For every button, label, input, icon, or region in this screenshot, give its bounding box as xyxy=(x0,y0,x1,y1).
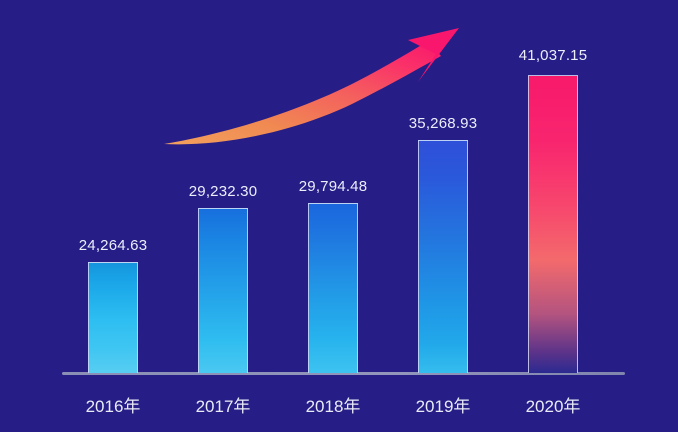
category-label-2016: 2016年 xyxy=(86,392,141,417)
category-label-2019: 2019年 xyxy=(416,392,471,417)
bar-2017 xyxy=(198,208,248,373)
bar-value-2020: 41,037.15 xyxy=(519,47,588,64)
category-label-2020: 2020年 xyxy=(526,392,581,417)
bar-value-2018: 29,794.48 xyxy=(299,178,368,195)
category-label-2017: 2017年 xyxy=(196,392,251,417)
bar-value-2019: 35,268.93 xyxy=(409,115,478,132)
bar-value-2016: 24,264.63 xyxy=(79,237,148,254)
bar-2020 xyxy=(528,75,578,373)
bar-2019 xyxy=(418,140,468,373)
bar-2018 xyxy=(308,203,358,373)
bar-value-2017: 29,232.30 xyxy=(189,183,258,200)
bar-chart-figure: 24,264.63 2016年 29,232.30 2017年 29,794.4… xyxy=(0,0,678,432)
category-label-2018: 2018年 xyxy=(306,392,361,417)
plot-area: 24,264.63 2016年 29,232.30 2017年 29,794.4… xyxy=(0,0,678,432)
bar-2016 xyxy=(88,262,138,373)
